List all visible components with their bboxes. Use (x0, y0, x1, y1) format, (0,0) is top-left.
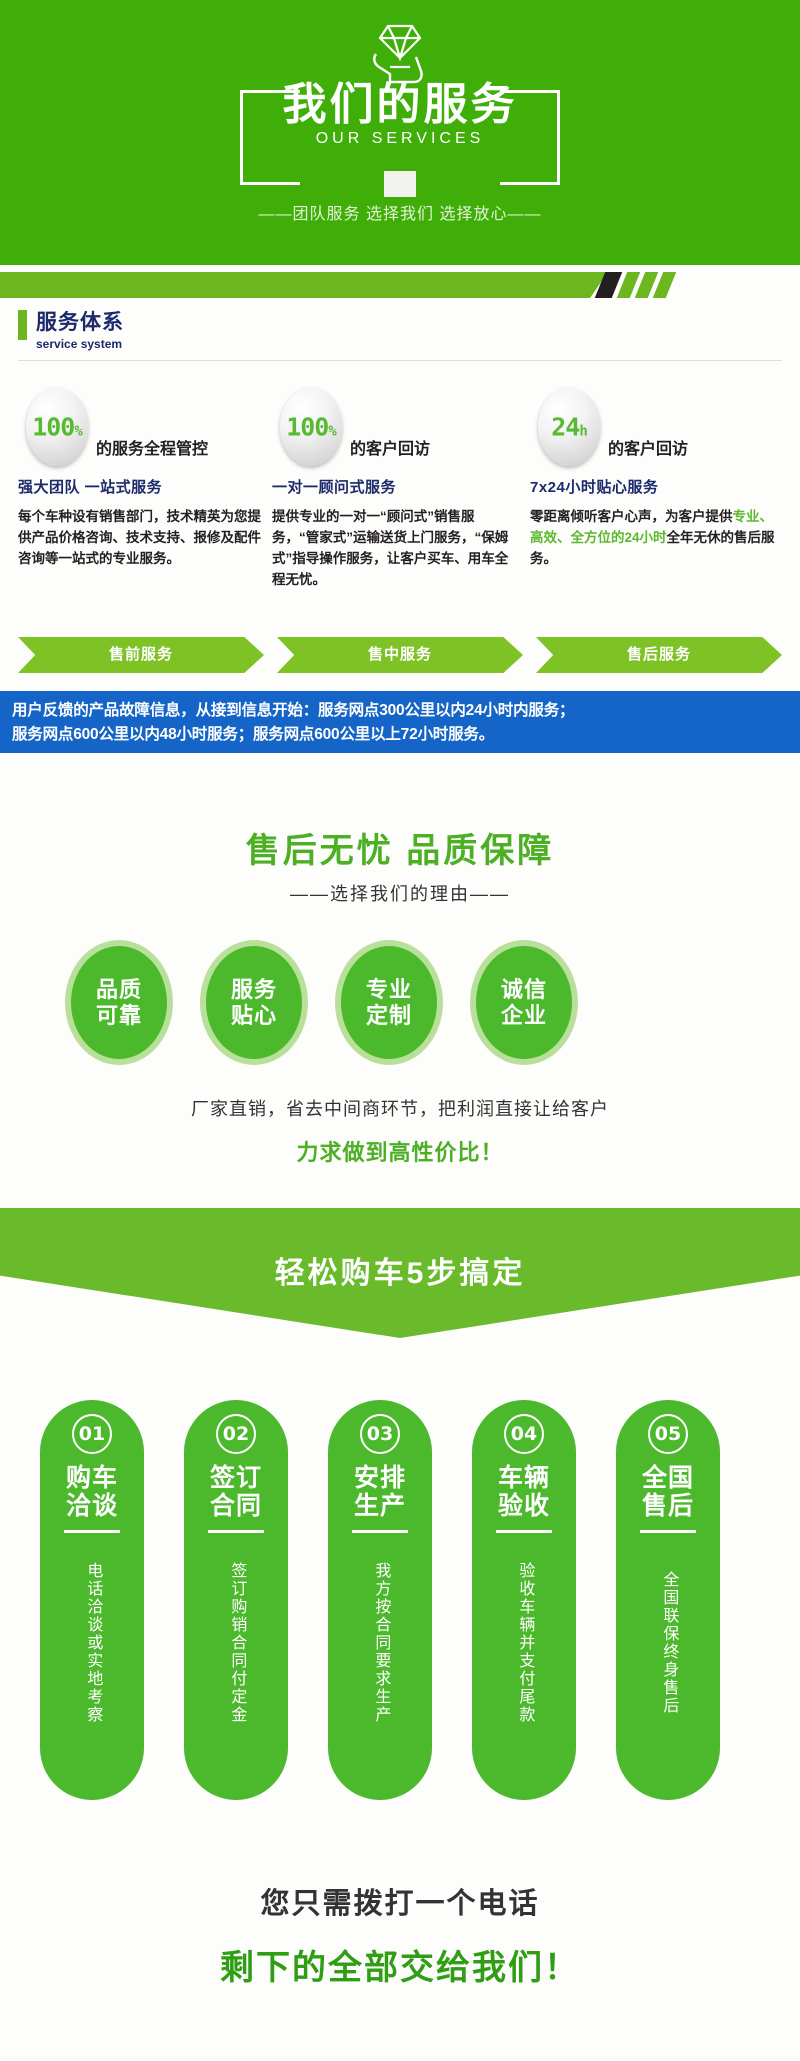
step-title-line-1: 全国 (642, 1464, 694, 1492)
step-description: 我方按合同要求生产 (370, 1545, 391, 1740)
steps-chevron-banner: 轻松购车5步搞定 (0, 1208, 800, 1338)
response-policy-bar: 用户反馈的产品故障信息，从接到信息开始：服务网点300公里以内24小时内服务； … (0, 691, 800, 753)
purchase-step[interactable]: 02 签订合同 签订购销合同付定金 (184, 1400, 288, 1800)
reason-circle: 诚信企业 (470, 940, 578, 1065)
service-system-stripe-bar (0, 272, 800, 298)
purchase-step[interactable]: 05 全国售后 全国联保终身售后 (616, 1400, 720, 1800)
footer-line-2: 剩下的全部交给我们！ (0, 1940, 800, 1989)
column-body: 每个车种设有销售部门，技术精英为您提供产品价格咨询、技术支持、报修及配件咨询等一… (18, 507, 263, 570)
badge-unit: h (579, 424, 586, 440)
body-text-pre: 零距离倾听客户心声，为客户提供 (530, 509, 733, 524)
reason-circle: 服务贴心 (200, 940, 308, 1065)
circle-line-1: 品质 (96, 977, 142, 1002)
circle-line-2: 可靠 (96, 1003, 142, 1028)
column-body: 提供专业的一对一“顾问式”销售服务，“管家式”运输送货上门服务，“保姆式”指导操… (272, 507, 517, 591)
service-system-bar (0, 272, 590, 298)
phase-arrows: 售前服务 售中服务 售后服务 (18, 637, 782, 673)
service-column: 24h 的客户回访 7x24小时贴心服务 零距离倾听客户心声，为客户提供专业、高… (530, 388, 775, 570)
page-subtitle: OUR SERVICES (240, 130, 560, 148)
step-title-line-1: 签订 (210, 1464, 262, 1492)
reason-circles: 品质可靠 服务贴心 专业定制 诚信企业 (0, 940, 800, 1070)
step-divider (208, 1530, 264, 1533)
page-title: 我们的服务 (240, 68, 560, 132)
purchase-step[interactable]: 04 车辆验收 验收车辆并支付尾款 (472, 1400, 576, 1800)
step-number: 01 (72, 1414, 112, 1454)
promo-line-2: 力求做到高性价比！ (0, 1135, 800, 1167)
badge-value: 100 (286, 413, 328, 442)
reasons-subtitle: ——选择我们的理由—— (0, 880, 800, 906)
purchase-steps: 01 购车洽谈 电话洽谈或实地考察 02 签订合同 签订购销合同付定金 03 安… (0, 1400, 800, 1820)
policy-line-1: 用户反馈的产品故障信息，从接到信息开始：服务网点300公里以内24小时内服务； (12, 699, 788, 723)
label-accent-tab (18, 310, 27, 340)
hero-title-frame: 我们的服务 OUR SERVICES (240, 90, 560, 185)
reason-circle: 品质可靠 (65, 940, 173, 1065)
phase-arrow-aftersale[interactable]: 售后服务 (536, 637, 782, 673)
hero-tagline: ——团队服务 选择我们 选择放心—— (0, 200, 800, 224)
column-body: 零距离倾听客户心声，为客户提供专业、高效、全方位的24小时全年无休的售后服务。 (530, 507, 775, 570)
step-number: 02 (216, 1414, 256, 1454)
metric-badge: 100% (280, 388, 342, 466)
frame-notch (384, 171, 416, 197)
step-number: 05 (648, 1414, 688, 1454)
column-heading: 7x24小时贴心服务 (530, 476, 775, 497)
step-description: 全国联保终身售后 (658, 1545, 679, 1740)
promo-line-1: 厂家直销，省去中间商环节，把利润直接让给客户 (0, 1095, 800, 1121)
step-title-line-1: 安排 (354, 1464, 406, 1492)
metric-badge: 100% (26, 388, 88, 466)
circle-line-1: 诚信 (501, 977, 547, 1002)
step-title: 车辆验收 (498, 1464, 550, 1520)
badge-value: 100 (32, 413, 74, 442)
step-description: 签订购销合同付定金 (226, 1545, 247, 1740)
badge-unit: % (74, 424, 81, 440)
badge-value: 24 (551, 413, 579, 442)
step-title-line-2: 生产 (354, 1492, 406, 1520)
circle-line-2: 定制 (366, 1003, 412, 1028)
step-divider (64, 1530, 120, 1533)
purchase-step[interactable]: 01 购车洽谈 电话洽谈或实地考察 (40, 1400, 144, 1800)
badge-caption: 的客户回访 (608, 435, 688, 459)
step-divider (496, 1530, 552, 1533)
step-divider (640, 1530, 696, 1533)
chevron-label: 轻松购车5步搞定 (0, 1248, 800, 1292)
reason-circle: 专业定制 (335, 940, 443, 1065)
circle-line-2: 贴心 (231, 1003, 277, 1028)
arrow-label: 售后服务 (536, 637, 782, 673)
circle-line-1: 专业 (366, 977, 412, 1002)
badge-caption: 的客户回访 (350, 435, 430, 459)
step-description: 电话洽谈或实地考察 (82, 1545, 103, 1740)
service-system-title-cn: 服务体系 (36, 306, 124, 336)
step-title-line-2: 洽谈 (66, 1492, 118, 1520)
arrow-label: 售前服务 (18, 637, 264, 673)
step-title-line-2: 验收 (498, 1492, 550, 1520)
purchase-step[interactable]: 03 安排生产 我方按合同要求生产 (328, 1400, 432, 1800)
body-text-highlight-2: 24小时 (625, 530, 667, 545)
step-title: 签订合同 (210, 1464, 262, 1520)
step-title: 全国售后 (642, 1464, 694, 1520)
circle-line-2: 企业 (501, 1003, 547, 1028)
step-title-line-2: 合同 (210, 1492, 262, 1520)
service-column: 100% 的客户回访 一对一顾问式服务 提供专业的一对一“顾问式”销售服务，“管… (272, 388, 517, 591)
reasons-title: 售后无忧 品质保障 (0, 823, 800, 872)
step-title: 安排生产 (354, 1464, 406, 1520)
service-system-title-en: service system (36, 337, 124, 351)
column-heading: 强大团队 一站式服务 (18, 476, 263, 497)
phase-arrow-presale[interactable]: 售前服务 (18, 637, 264, 673)
column-heading: 一对一顾问式服务 (272, 476, 517, 497)
circle-line-1: 服务 (231, 977, 277, 1002)
step-title-line-1: 购车 (66, 1464, 118, 1492)
policy-line-2: 服务网点600公里以内48小时服务；服务网点600公里以上72小时服务。 (12, 723, 788, 747)
step-number: 03 (360, 1414, 400, 1454)
hero-banner: 我们的服务 OUR SERVICES ——团队服务 选择我们 选择放心—— (0, 0, 800, 265)
step-title-line-2: 售后 (642, 1492, 694, 1520)
step-number: 04 (504, 1414, 544, 1454)
arrow-label: 售中服务 (277, 637, 523, 673)
badge-caption: 的服务全程管控 (96, 435, 208, 459)
step-title-line-1: 车辆 (498, 1464, 550, 1492)
step-title: 购车洽谈 (66, 1464, 118, 1520)
metric-badge: 24h (538, 388, 600, 466)
service-system-label: 服务体系 service system (18, 306, 124, 351)
badge-unit: % (328, 424, 335, 440)
step-description: 验收车辆并支付尾款 (514, 1545, 535, 1740)
section-divider (18, 360, 782, 361)
service-column: 100% 的服务全程管控 强大团队 一站式服务 每个车种设有销售部门，技术精英为… (18, 388, 263, 570)
footer-line-1: 您只需拨打一个电话 (0, 1880, 800, 1922)
phase-arrow-midsale[interactable]: 售中服务 (277, 637, 523, 673)
step-divider (352, 1530, 408, 1533)
